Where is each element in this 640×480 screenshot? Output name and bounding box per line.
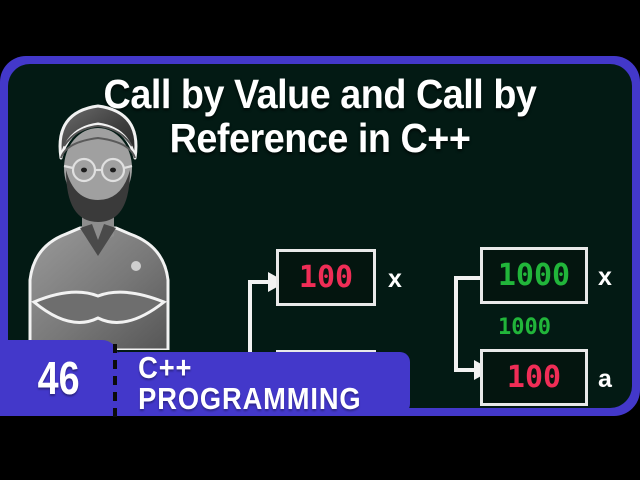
callbyvalue-caller-value: 100 xyxy=(299,263,353,293)
episode-number-badge: 46 xyxy=(0,340,118,416)
episode-number-label: 46 xyxy=(38,355,80,401)
callbyreference-callee-label: a xyxy=(598,367,612,392)
callbyreference-callee-value: 100 xyxy=(507,363,561,393)
presenter-photo xyxy=(18,50,178,350)
callbyreference-callee-box: 100 xyxy=(480,349,588,406)
callbyvalue-caller-label: x xyxy=(388,267,402,292)
course-name-label: C++ PROGRAMMING xyxy=(110,352,374,414)
dashed-divider xyxy=(113,344,117,422)
thumbnail-canvas: Call by Value and Call by Reference in C… xyxy=(0,0,640,480)
callbyreference-caller-label: x xyxy=(598,265,612,290)
course-name-bar: C++ PROGRAMMING xyxy=(110,352,410,414)
callbyvalue-caller-box: 100 xyxy=(276,249,376,306)
callbyreference-caller-box: 1000 xyxy=(480,247,588,304)
callbyreference-annotation: 1000 xyxy=(498,317,551,339)
callbyreference-caller-value: 1000 xyxy=(498,261,570,291)
